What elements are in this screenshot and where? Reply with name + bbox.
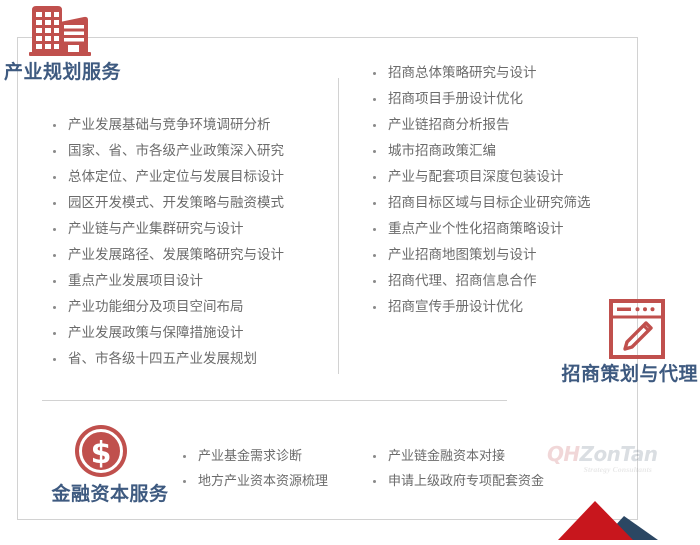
list-item: 招商项目手册设计优化 [368,86,591,112]
list-item: 城市招商政策汇编 [368,138,591,164]
list-item: 省、市各级十四五产业发展规划 [48,346,284,372]
list-item: 产业发展政策与保障措施设计 [48,320,284,346]
office-building-icon [24,2,204,63]
list-item: 地方产业资本资源梳理 [178,468,328,493]
bullet-list-investment: 招商总体策略研究与设计 招商项目手册设计优化 产业链招商分析报告 城市招商政策汇… [368,60,591,320]
list-item: 招商目标区域与目标企业研究筛选 [368,190,591,216]
list-item: 国家、省、市各级产业政策深入研究 [48,138,284,164]
bullet-list-finance-left: 产业基金需求诊断 地方产业资本资源梳理 [178,443,328,493]
bullet-list-finance-right: 产业链金融资本对接 申请上级政府专项配套资金 [368,443,544,493]
vertical-divider [338,78,339,374]
list-item: 产业链金融资本对接 [368,443,544,468]
browser-pencil-icon [573,298,700,365]
list-item: 产业链招商分析报告 [368,112,591,138]
bullet-list-planning: 产业发展基础与竞争环境调研分析 国家、省、市各级产业政策深入研究 总体定位、产业… [48,112,284,372]
coins-dollar-icon: $ [30,422,190,485]
section-header-investment: 招商策划与代理 [555,298,700,386]
section-title-finance: 金融资本服务 [30,485,190,506]
list-item: 招商代理、招商信息合作 [368,268,591,294]
list-item: 产业发展基础与竞争环境调研分析 [48,112,284,138]
list-item: 总体定位、产业定位与发展目标设计 [48,164,284,190]
list-item: 产业招商地图策划与设计 [368,242,591,268]
mountain-decoration [558,498,658,540]
section-title-investment: 招商策划与代理 [555,365,700,386]
list-item: 产业功能细分及项目空间布局 [48,294,284,320]
horizontal-divider [42,400,507,401]
list-item: 重点产业个性化招商策略设计 [368,216,591,242]
list-item: 重点产业发展项目设计 [48,268,284,294]
list-item: 招商总体策略研究与设计 [368,60,591,86]
svg-text:$: $ [91,436,112,471]
list-item: 产业基金需求诊断 [178,443,328,468]
list-item: 申请上级政府专项配套资金 [368,468,544,493]
list-item: 产业发展路径、发展策略研究与设计 [48,242,284,268]
list-item: 园区开发模式、开发策略与融资模式 [48,190,284,216]
slide-canvas: 产业规划服务 产业发展基础与竞争环境调研分析 国家、省、市各级产业政策深入研究 … [0,0,700,540]
list-item: 产业链与产业集群研究与设计 [48,216,284,242]
list-item: 产业与配套项目深度包装设计 [368,164,591,190]
section-header-planning: 产业规划服务 [4,2,204,84]
section-header-finance: $ 金融资本服务 [30,422,190,506]
section-title-planning: 产业规划服务 [4,63,204,84]
